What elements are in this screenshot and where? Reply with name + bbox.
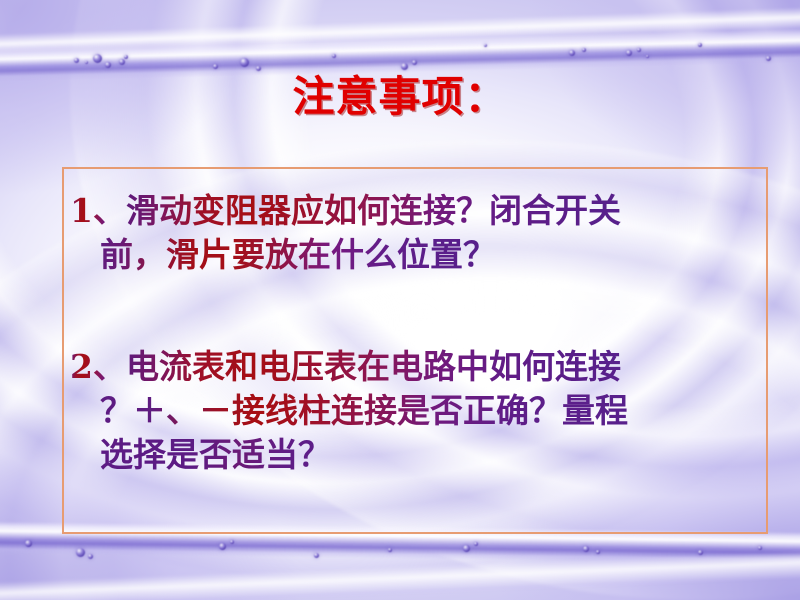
list-item-line: 前，滑片要放在什么位置？ [100, 235, 496, 274]
bubble-decor [388, 548, 392, 552]
bubble-decor [569, 50, 575, 56]
bubble-decor [332, 54, 336, 58]
bubble-decor [85, 61, 88, 64]
bubble-decor [758, 546, 762, 550]
bubble-decor [25, 540, 32, 547]
list-item: 1、滑动变阻器应如何连接？闭合开关 前，滑片要放在什么位置？ [70, 189, 760, 277]
bubble-decor [637, 48, 641, 52]
bubble-decor [219, 543, 226, 550]
slide-canvas: 注意事项： 1、滑动变阻器应如何连接？闭合开关 前，滑片要放在什么位置？ 2、电… [0, 0, 800, 600]
bubble-decor [401, 63, 408, 70]
bubble-decor [484, 44, 487, 47]
bubble-decor [314, 553, 319, 558]
bubble-decor [698, 43, 702, 47]
bubble-decor [88, 554, 93, 559]
list-item-line: 滑动变阻器应如何连接？闭合开关 [126, 191, 621, 230]
bubble-decor [646, 55, 649, 58]
bubble-decor [124, 55, 128, 59]
bubble-decor [583, 546, 589, 552]
bubble-decor [105, 62, 111, 68]
list-item-number: 1、 [70, 191, 126, 230]
list-item: 2、电流表和电压表在电路中如何连接 ？＋、－接线柱连接是否正确？量程 选择是否适… [70, 345, 760, 477]
bubble-decor [766, 56, 771, 61]
list-item-line: ？＋、－接线柱连接是否正确？量程 [100, 391, 628, 430]
page-title: 注意事项： [0, 76, 800, 118]
bubble-decor [256, 66, 261, 71]
list-item-line: 电流表和电压表在电路中如何连接 [126, 347, 621, 386]
bubble-decor [474, 542, 478, 546]
list-item-line: 选择是否适当？ [100, 435, 331, 474]
bubble-decor [582, 48, 586, 52]
content-box: 1、滑动变阻器应如何连接？闭合开关 前，滑片要放在什么位置？ 2、电流表和电压表… [62, 167, 768, 534]
bubble-decor [93, 54, 102, 63]
bubble-decor [698, 550, 703, 555]
bubble-decor [240, 58, 249, 67]
bubble-decor [463, 545, 470, 552]
bubble-decor [412, 60, 417, 65]
bubble-decor [626, 50, 632, 56]
bubble-decor [213, 64, 218, 69]
bubble-decor [119, 59, 125, 65]
bubble-decor [596, 550, 600, 554]
bubble-decor [230, 540, 234, 544]
list-item-number: 2、 [70, 347, 126, 386]
bubble-decor [76, 548, 85, 557]
bubble-decor [74, 58, 79, 63]
